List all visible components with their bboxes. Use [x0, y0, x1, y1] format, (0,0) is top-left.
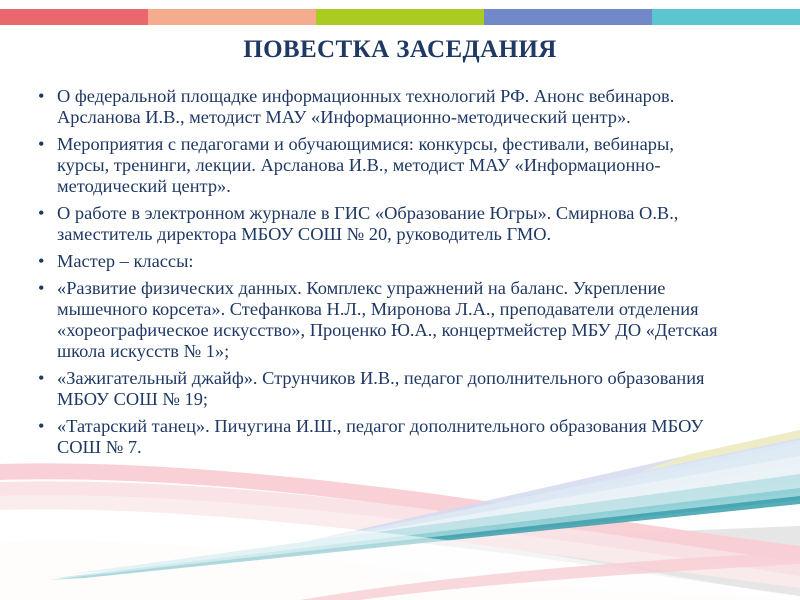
list-item-text: «Зажигательный джайф». Струнчиков И.В., … [57, 368, 730, 410]
agenda-bullet-list: • О федеральной площадке информационных … [30, 86, 730, 464]
list-item-text: Мероприятия с педагогами и обучающимися:… [57, 134, 730, 197]
list-item: • О федеральной площадке информационных … [30, 86, 730, 128]
page-title: ПОВЕСТКА ЗАСЕДАНИЯ [0, 36, 800, 64]
bullet-marker-icon: • [38, 203, 44, 224]
decor-pink-bottom [300, 552, 800, 600]
top-bar-segment-blue [484, 9, 652, 25]
presentation-slide: ПОВЕСТКА ЗАСЕДАНИЯ • О федеральной площа… [0, 0, 800, 600]
decor-white-overlay [0, 515, 800, 600]
bullet-marker-icon: • [38, 251, 44, 272]
top-color-bar [0, 9, 800, 25]
decor-cream-wash-2 [0, 561, 520, 600]
bullet-marker-icon: • [38, 86, 44, 107]
list-item: • «Зажигательный джайф». Струнчиков И.В.… [30, 368, 730, 410]
list-item-text: «Развитие физических данных. Комплекс уп… [57, 278, 730, 362]
list-item: • «Татарский танец». Пичугина И.Ш., педа… [30, 416, 730, 458]
bullet-marker-icon: • [38, 134, 44, 155]
list-item-text: «Татарский танец». Пичугина И.Ш., педаго… [57, 416, 730, 458]
decor-teal-band [70, 474, 800, 574]
bullet-marker-icon: • [38, 278, 44, 299]
decor-lightblue-diagonal-2 [190, 456, 800, 564]
bullet-marker-icon: • [38, 368, 44, 389]
bullet-marker-icon: • [38, 416, 44, 437]
decor-cream-wash [0, 547, 800, 600]
decor-grey-band [0, 526, 800, 600]
list-item: • О работе в электронном журнале в ГИС «… [30, 203, 730, 245]
decor-pink-band-3 [0, 495, 800, 588]
decor-teal-band-2 [55, 488, 800, 578]
list-item: • «Развитие физических данных. Комплекс … [30, 278, 730, 362]
decor-white-sweep [0, 524, 800, 600]
decor-pink-band-2 [0, 481, 800, 576]
top-bar-segment-teal [652, 9, 800, 25]
top-bar-segment-salmon [148, 9, 316, 25]
list-item: • Мастер – классы: [30, 251, 730, 272]
top-bar-segment-red [0, 9, 148, 25]
top-bar-segment-lime [316, 9, 484, 25]
list-item-text: О работе в электронном журнале в ГИС «Об… [57, 203, 730, 245]
decor-peach-band [0, 541, 800, 600]
list-item-text: О федеральной площадке информационных те… [57, 86, 730, 128]
list-item: • Мероприятия с педагогами и обучающимис… [30, 134, 730, 197]
list-item-text: Мастер – классы: [57, 251, 730, 272]
decor-teal-line [48, 496, 800, 580]
decor-pink-band [0, 463, 800, 562]
